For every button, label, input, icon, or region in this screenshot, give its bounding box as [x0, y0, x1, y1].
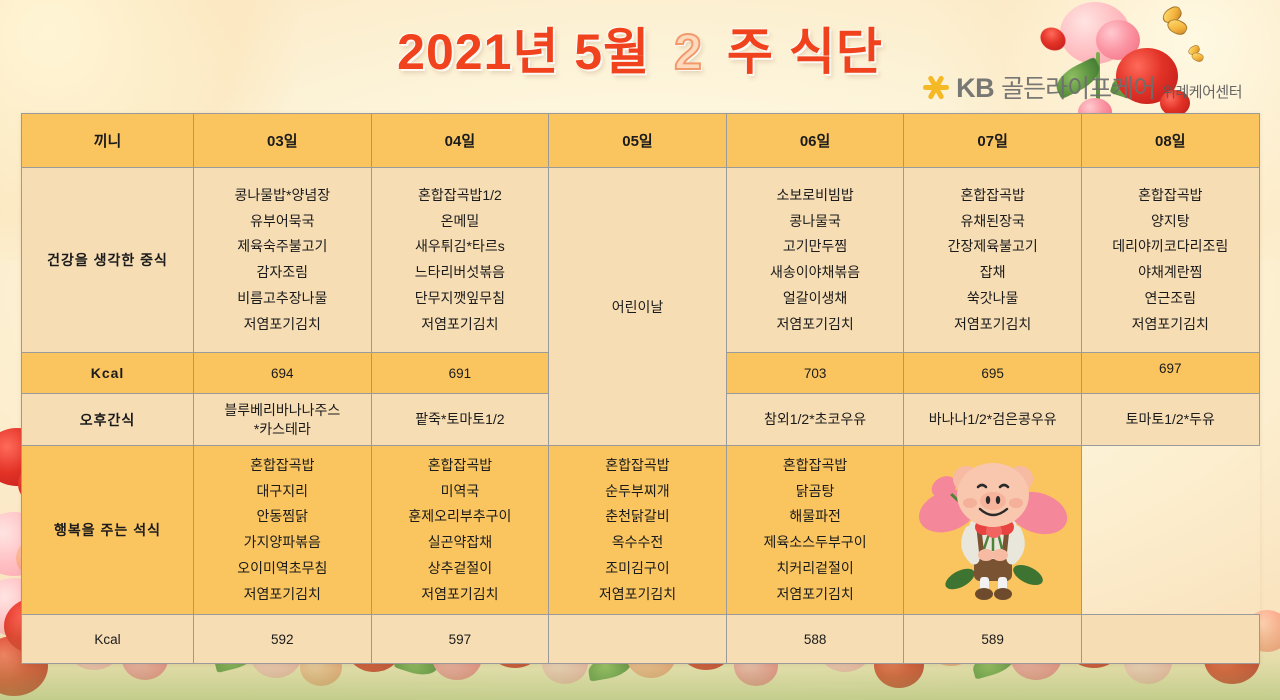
- dinner-row-label: 행복을 주는 석식: [22, 446, 194, 615]
- title-week-number: 2: [674, 23, 703, 81]
- lunch-cell-day-08: 혼합잡곡밥 양지탕 데리야끼코다리조림 야채계란찜 연근조림 저염포기김치: [1081, 168, 1259, 353]
- menu-item: 새우튀김*타르s: [374, 234, 547, 260]
- lunch-row-label: 건강을 생각한 중식: [22, 168, 194, 353]
- menu-item: 옥수수전: [551, 530, 724, 556]
- meal-plan-table-container: 끼니 03일 04일 05일 06일 07일 08일 건강을 생각한 중식 콩나…: [21, 113, 1259, 664]
- menu-item: 대구지리: [196, 479, 369, 505]
- snack-cell-day-08: 토마토1/2*두유: [1081, 394, 1259, 446]
- menu-item: 혼합잡곡밥: [374, 453, 547, 479]
- menu-item: 혼합잡곡밥1/2: [374, 183, 547, 209]
- menu-item: 상추겉절이: [374, 556, 547, 582]
- menu-item-list: 소보로비빔밥 콩나물국 고기만두찜 새송이야채볶음 얼갈이생채 저염포기김치: [729, 183, 902, 338]
- menu-item-list: 혼합잡곡밥1/2 온메밀 새우튀김*타르s 느타리버섯볶음 단무지깻잎무침 저염…: [374, 183, 547, 338]
- snack-item-list: 블루베리바나나주스 *카스테라: [196, 401, 369, 439]
- lunch-kcal-day-07: 695: [904, 353, 1082, 394]
- brand-logo: KB 골든라이프케어 위례케어센터: [923, 74, 1242, 102]
- menu-item: 쑥갓나물: [906, 286, 1079, 312]
- column-header-day-08: 08일: [1081, 114, 1259, 168]
- lunch-kcal-day-08: 697: [1081, 353, 1259, 394]
- menu-item: 간장제육불고기: [906, 234, 1079, 260]
- menu-item: 훈제오리부추구이: [374, 504, 547, 530]
- title-prefix: 2021년 5월: [397, 24, 650, 80]
- menu-item: 혼합잡곡밥: [551, 453, 724, 479]
- menu-item: 단무지깻잎무침: [374, 286, 547, 312]
- menu-item: 저염포기김치: [374, 582, 547, 608]
- dinner-kcal-day-07: 589: [904, 615, 1082, 664]
- menu-item: 소보로비빔밥: [729, 183, 902, 209]
- lunch-cell-day-04: 혼합잡곡밥1/2 온메밀 새우튀김*타르s 느타리버섯볶음 단무지깻잎무침 저염…: [371, 168, 549, 353]
- menu-item: 유부어묵국: [196, 209, 369, 235]
- lunch-kcal-day-08-value: 697: [1159, 361, 1182, 376]
- kcal-row-label: Kcal: [22, 353, 194, 394]
- menu-item: 혼합잡곡밥: [729, 453, 902, 479]
- snack-cell-day-06: 참외1/2*초코우유: [726, 394, 904, 446]
- dinner-kcal-day-05: [549, 615, 727, 664]
- menu-item: 새송이야채볶음: [729, 260, 902, 286]
- lunch-cell-day-07: 혼합잡곡밥 유채된장국 간장제육불고기 잡채 쑥갓나물 저염포기김치: [904, 168, 1082, 353]
- menu-item: 미역국: [374, 479, 547, 505]
- menu-item: 해물파전: [729, 504, 902, 530]
- menu-item: 양지탕: [1084, 209, 1257, 235]
- dinner-cell-day-06: 혼합잡곡밥 순두부찌개 춘천닭갈비 옥수수전 조미김구이 저염포기김치: [549, 446, 727, 615]
- lunch-kcal-day-03: 694: [194, 353, 372, 394]
- dinner-cell-day-03: 혼합잡곡밥 대구지리 안동찜닭 가지양파볶음 오이미역초무침 저염포기김치: [194, 446, 372, 615]
- column-header-day-05: 05일: [549, 114, 727, 168]
- snack-item: 참외1/2*초코우유: [729, 410, 902, 429]
- menu-item: 저염포기김치: [729, 582, 902, 608]
- snack-row-label: 오후간식: [22, 394, 194, 446]
- menu-item: 느타리버섯볶음: [374, 260, 547, 286]
- menu-item: 조미김구이: [551, 556, 724, 582]
- menu-item: 닭곰탕: [729, 479, 902, 505]
- menu-item-list: 혼합잡곡밥 미역국 훈제오리부추구이 실곤약잡채 상추겉절이 저염포기김치: [374, 453, 547, 608]
- menu-item: 연근조림: [1084, 286, 1257, 312]
- snack-cell-day-03: 블루베리바나나주스 *카스테라: [194, 394, 372, 446]
- menu-item: 저염포기김치: [729, 312, 902, 338]
- meal-plan-table: 끼니 03일 04일 05일 06일 07일 08일 건강을 생각한 중식 콩나…: [21, 113, 1260, 664]
- snack-item: 블루베리바나나주스: [196, 401, 369, 420]
- menu-item-list: 혼합잡곡밥 닭곰탕 해물파전 제육소스두부구이 치커리겉절이 저염포기김치: [729, 453, 902, 608]
- menu-item: 저염포기김치: [196, 582, 369, 608]
- dinner-kcal-day-08: [1081, 615, 1259, 664]
- menu-item: 혼합잡곡밥: [906, 183, 1079, 209]
- menu-item: 잡채: [906, 260, 1079, 286]
- menu-item-list: 콩나물밥*양념장 유부어묵국 제육숙주불고기 감자조림 비름고추장나물 저염포기…: [196, 183, 369, 338]
- menu-item: 저염포기김치: [906, 312, 1079, 338]
- menu-item-list: 혼합잡곡밥 순두부찌개 춘천닭갈비 옥수수전 조미김구이 저염포기김치: [551, 453, 724, 608]
- brand-name-text: 골든라이프케어: [1001, 77, 1155, 102]
- menu-item: 콩나물국: [729, 209, 902, 235]
- dinner-row: 행복을 주는 석식 혼합잡곡밥 대구지리 안동찜닭 가지양파볶음 오이미역초무침…: [22, 446, 1260, 615]
- snack-item-list: 참외1/2*초코우유: [729, 410, 902, 429]
- menu-item: 야채계란찜: [1084, 260, 1257, 286]
- brand-center-text: 위례케어센터: [1162, 85, 1242, 100]
- menu-item: 콩나물밥*양념장: [196, 183, 369, 209]
- pig-with-carnations-illustration: [906, 450, 1079, 610]
- menu-item: 저염포기김치: [374, 312, 547, 338]
- menu-item-list: 혼합잡곡밥 대구지리 안동찜닭 가지양파볶음 오이미역초무침 저염포기김치: [196, 453, 369, 608]
- menu-item: 춘천닭갈비: [551, 504, 724, 530]
- menu-item: 오이미역초무침: [196, 556, 369, 582]
- snack-item: 팥죽*토마토1/2: [374, 410, 547, 429]
- lunch-kcal-day-06: 703: [726, 353, 904, 394]
- table-header-row: 끼니 03일 04일 05일 06일 07일 08일: [22, 114, 1260, 168]
- menu-item: 혼합잡곡밥: [1084, 183, 1257, 209]
- menu-item: 치커리겉절이: [729, 556, 902, 582]
- menu-item: 혼합잡곡밥: [196, 453, 369, 479]
- dinner-kcal-day-06: 588: [726, 615, 904, 664]
- title-suffix: 주 식단: [727, 24, 883, 80]
- snack-item: 토마토1/2*두유: [1084, 410, 1257, 429]
- dinner-kcal-row: Kcal 592 597 588 589: [22, 615, 1260, 664]
- snack-item: *카스테라: [196, 420, 369, 439]
- brand-kb-text: KB: [956, 75, 994, 102]
- lunch-cell-day-03: 콩나물밥*양념장 유부어묵국 제육숙주불고기 감자조림 비름고추장나물 저염포기…: [194, 168, 372, 353]
- snack-cell-day-07: 바나나1/2*검은콩우유: [904, 394, 1082, 446]
- dinner-kcal-day-04: 597: [371, 615, 549, 664]
- menu-item: 실곤약잡채: [374, 530, 547, 556]
- menu-item: 비름고추장나물: [196, 286, 369, 312]
- menu-item: 순두부찌개: [551, 479, 724, 505]
- column-header-meal: 끼니: [22, 114, 194, 168]
- menu-item: 유채된장국: [906, 209, 1079, 235]
- pig-illustration-cell: [904, 446, 1082, 615]
- menu-item: 저염포기김치: [1084, 312, 1257, 338]
- column-header-day-07: 07일: [904, 114, 1082, 168]
- menu-item: 안동찜닭: [196, 504, 369, 530]
- menu-item: 얼갈이생채: [729, 286, 902, 312]
- menu-item: 가지양파볶음: [196, 530, 369, 556]
- lunch-row: 건강을 생각한 중식 콩나물밥*양념장 유부어묵국 제육숙주불고기 감자조림 비…: [22, 168, 1260, 353]
- column-header-day-03: 03일: [194, 114, 372, 168]
- snack-item-list: 바나나1/2*검은콩우유: [906, 410, 1079, 429]
- lunch-cell-day-06: 소보로비빔밥 콩나물국 고기만두찜 새송이야채볶음 얼갈이생채 저염포기김치: [726, 168, 904, 353]
- kcal-row-label-2: Kcal: [22, 615, 194, 664]
- menu-item: 저염포기김치: [196, 312, 369, 338]
- snack-item-list: 팥죽*토마토1/2: [374, 410, 547, 429]
- holiday-cell-day-05: 어린이날: [549, 168, 727, 446]
- menu-item: 제육소스두부구이: [729, 530, 902, 556]
- menu-item: 저염포기김치: [551, 582, 724, 608]
- menu-item: 데리야끼코다리조림: [1084, 234, 1257, 260]
- column-header-day-06: 06일: [726, 114, 904, 168]
- menu-item: 감자조림: [196, 260, 369, 286]
- snack-item-list: 토마토1/2*두유: [1084, 410, 1257, 429]
- dinner-kcal-day-03: 592: [194, 615, 372, 664]
- kb-star-icon: [923, 74, 949, 100]
- menu-item: 온메밀: [374, 209, 547, 235]
- lunch-kcal-day-04: 691: [371, 353, 549, 394]
- menu-item: 제육숙주불고기: [196, 234, 369, 260]
- column-header-day-04: 04일: [371, 114, 549, 168]
- dinner-cell-day-04: 혼합잡곡밥 미역국 훈제오리부추구이 실곤약잡채 상추겉절이 저염포기김치: [371, 446, 549, 615]
- snack-item: 바나나1/2*검은콩우유: [906, 410, 1079, 429]
- menu-item: 고기만두찜: [729, 234, 902, 260]
- dinner-cell-day-07: 혼합잡곡밥 닭곰탕 해물파전 제육소스두부구이 치커리겉절이 저염포기김치: [726, 446, 904, 615]
- menu-item-list: 혼합잡곡밥 양지탕 데리야끼코다리조림 야채계란찜 연근조림 저염포기김치: [1084, 183, 1257, 338]
- menu-item-list: 혼합잡곡밥 유채된장국 간장제육불고기 잡채 쑥갓나물 저염포기김치: [906, 183, 1079, 338]
- snack-cell-day-04: 팥죽*토마토1/2: [371, 394, 549, 446]
